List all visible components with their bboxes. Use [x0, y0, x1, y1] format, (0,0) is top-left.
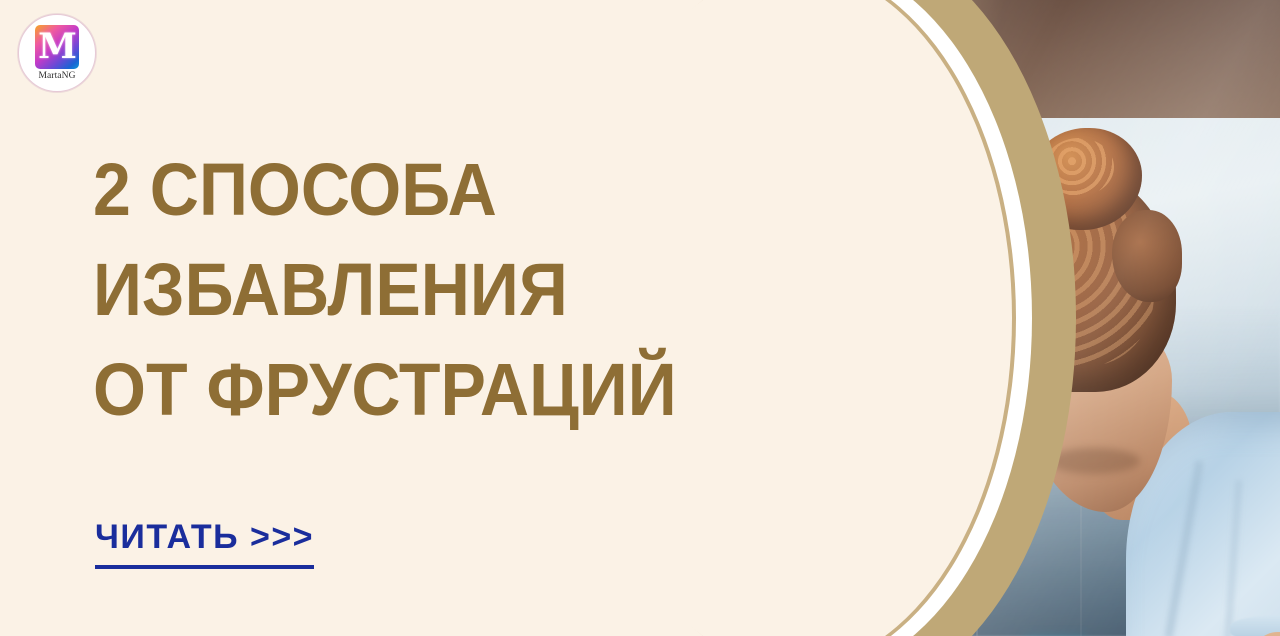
- logo-m-icon: M: [35, 25, 79, 69]
- hero-photo: [780, 0, 1280, 636]
- read-more-link[interactable]: ЧИТАТЬ >>>: [95, 518, 314, 569]
- subject-hair-strands: [1112, 210, 1182, 302]
- brand-logo[interactable]: M MartaNG: [18, 14, 96, 92]
- headline-line-3: ОТ ФРУСТРАЦИЙ: [93, 340, 627, 440]
- headline-block: 2 СПОСОБА ИЗБАВЛЕНИЯ ОТ ФРУСТРАЦИЙ: [93, 140, 673, 440]
- promo-banner: M MartaNG 2 СПОСОБА ИЗБАВЛЕНИЯ ОТ ФРУСТР…: [0, 0, 1280, 636]
- headline-line-2: ИЗБАВЛЕНИЯ: [93, 240, 627, 340]
- subject-face-shadow: [1048, 448, 1140, 474]
- photo-scene: [780, 0, 1280, 636]
- reflection-neck: [842, 356, 934, 476]
- page-title: 2 СПОСОБА ИЗБАВЛЕНИЯ ОТ ФРУСТРАЦИЙ: [93, 140, 627, 440]
- photo-subject-woman: [930, 60, 1280, 636]
- read-more-label: ЧИТАТЬ >>>: [95, 518, 314, 556]
- headline-line-1: 2 СПОСОБА: [93, 140, 627, 240]
- logo-brand-text: MartaNG: [38, 71, 75, 81]
- logo-m-letter: M: [38, 29, 76, 64]
